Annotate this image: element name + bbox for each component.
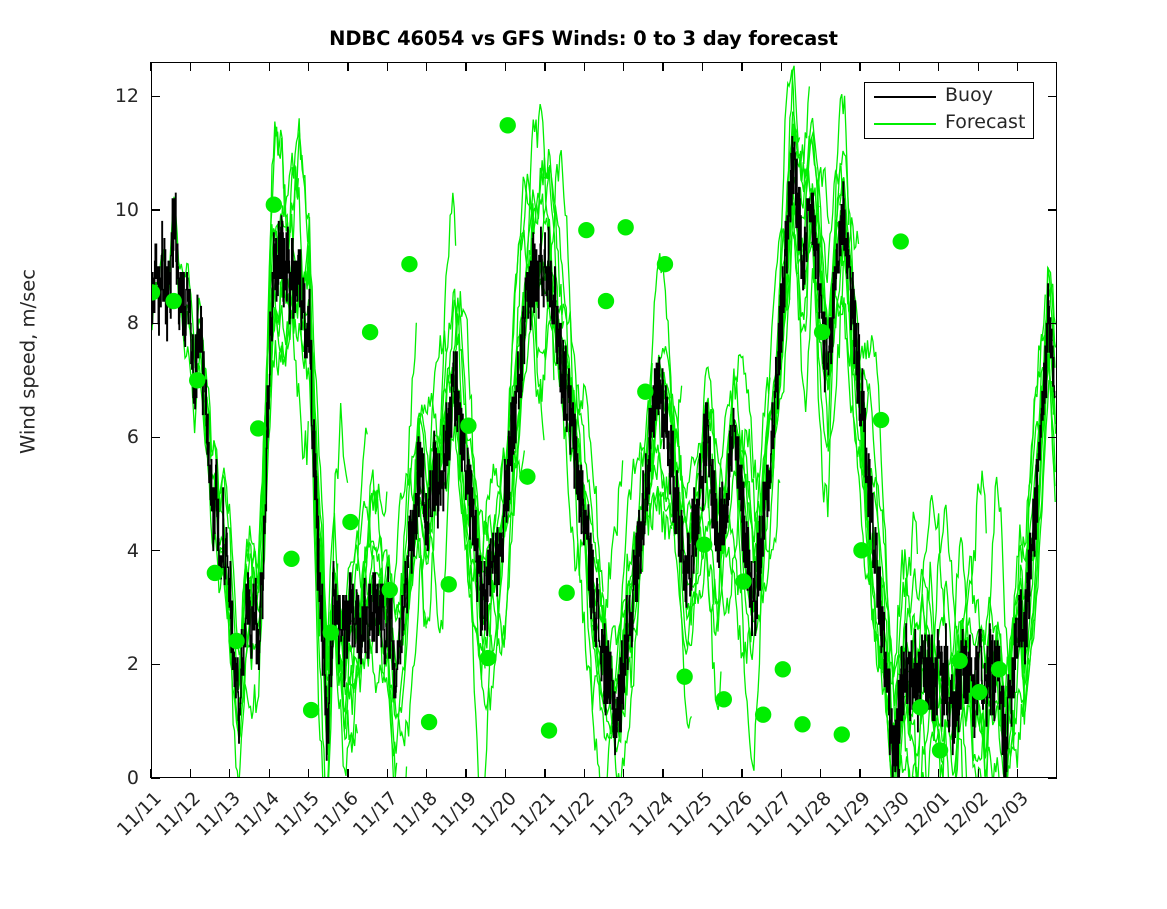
x-tick-mark [623,769,624,778]
x-tick-mark [584,769,585,778]
y-tick-mark [1048,209,1057,210]
daily-mean-marker [559,585,575,601]
legend-box: Buoy Forecast [864,82,1034,139]
x-tick-mark [229,62,230,71]
x-tick-mark [938,62,939,71]
x-tick-mark [781,769,782,778]
daily-mean-marker [598,293,614,309]
x-tick-mark [978,769,979,778]
x-tick-mark [347,769,348,778]
y-tick-label: 12 [79,85,139,107]
daily-mean-marker [775,661,791,677]
x-tick-mark [544,62,545,71]
daily-mean-marker [382,582,398,598]
daily-mean-marker [873,412,889,428]
y-tick-mark [151,209,160,210]
daily-mean-marker [362,324,378,340]
daily-mean-marker [266,197,282,213]
y-axis-label: Wind speed, m/sec [17,102,40,622]
daily-mean-marker [617,219,633,235]
buoy-line [152,137,1056,777]
y-tick-mark [151,96,160,97]
daily-mean-marker [735,573,751,589]
x-tick-mark [269,62,270,71]
y-tick-mark [1048,323,1057,324]
x-tick-mark [584,62,585,71]
daily-mean-marker [480,650,496,666]
legend-entry-forecast: Forecast [865,110,1033,138]
x-tick-mark [1017,769,1018,778]
x-tick-mark [190,62,191,71]
y-tick-label: 10 [79,199,139,221]
daily-mean-marker [952,653,968,669]
daily-mean-marker [834,726,850,742]
daily-mean-marker [853,542,869,558]
x-tick-mark [387,62,388,71]
daily-mean-marker [676,669,692,685]
x-tick-mark [465,62,466,71]
daily-mean-marker [814,324,830,340]
x-tick-mark [859,769,860,778]
y-tick-mark [151,664,160,665]
daily-mean-marker [323,624,339,640]
x-tick-mark [623,62,624,71]
x-tick-mark [308,62,309,71]
daily-mean-marker [519,468,535,484]
x-tick-mark [741,769,742,778]
legend-swatch-forecast [874,123,936,125]
x-tick-mark [387,769,388,778]
chart-title: NDBC 46054 vs GFS Winds: 0 to 3 day fore… [0,27,1167,50]
y-tick-label: 4 [79,540,139,562]
daily-mean-marker [303,702,319,718]
x-tick-mark [820,769,821,778]
daily-mean-marker [578,222,594,238]
x-tick-mark [899,62,900,71]
legend-swatch-buoy [874,96,936,98]
forecast-trace [712,70,829,604]
daily-mean-marker [421,714,437,730]
y-tick-label: 8 [79,312,139,334]
figure-canvas: NDBC 46054 vs GFS Winds: 0 to 3 day fore… [0,0,1167,875]
y-tick-mark [1048,664,1057,665]
x-tick-mark [150,769,151,778]
y-tick-label: 0 [79,767,139,789]
x-tick-mark [426,62,427,71]
daily-mean-marker [912,699,928,715]
x-tick-mark [859,62,860,71]
x-tick-mark [1017,62,1018,71]
daily-mean-marker [207,565,223,581]
daily-mean-marker [893,233,909,249]
daily-mean-marker [401,256,417,272]
x-tick-mark [229,769,230,778]
x-tick-mark [269,769,270,778]
x-tick-mark [465,769,466,778]
y-tick-mark [1048,437,1057,438]
chart-svg [152,63,1056,777]
x-tick-mark [938,769,939,778]
y-tick-label: 6 [79,426,139,448]
y-tick-label: 2 [79,653,139,675]
daily-mean-marker [165,293,181,309]
daily-mean-marker [342,514,358,530]
daily-mean-marker [991,661,1007,677]
x-tick-mark [505,62,506,71]
y-tick-mark [151,550,160,551]
daily-mean-marker [932,742,948,758]
daily-mean-marker [283,551,299,567]
daily-mean-marker [716,691,732,707]
x-tick-mark [662,769,663,778]
x-tick-mark [544,769,545,778]
daily-mean-marker [541,722,557,738]
x-tick-mark [702,62,703,71]
y-tick-mark [151,778,160,779]
plot-area [151,62,1057,778]
y-tick-mark [151,437,160,438]
daily-mean-marker [657,256,673,272]
daily-mean-marker [441,576,457,592]
x-tick-mark [781,62,782,71]
daily-mean-marker [460,418,476,434]
daily-mean-marker [971,684,987,700]
daily-mean-marker [228,633,244,649]
forecast-trace [496,302,613,777]
x-tick-mark [308,769,309,778]
x-tick-mark [190,769,191,778]
daily-mean-marker [794,716,810,732]
x-tick-mark [741,62,742,71]
daily-mean-marker [500,117,516,133]
daily-mean-marker [637,384,653,400]
x-tick-mark [702,769,703,778]
x-tick-mark [820,62,821,71]
y-tick-mark [1048,550,1057,551]
y-tick-mark [1048,778,1057,779]
x-tick-mark [978,62,979,71]
daily-mean-marker [250,420,266,436]
x-tick-mark [347,62,348,71]
legend-label-buoy: Buoy [945,84,993,106]
x-tick-mark [505,769,506,778]
daily-mean-marker [755,706,771,722]
forecast-trace [516,252,633,727]
legend-entry-buoy: Buoy [865,83,1033,111]
x-tick-mark [899,769,900,778]
y-tick-mark [1048,96,1057,97]
daily-mean-marker [189,372,205,388]
daily-mean-marker [696,536,712,552]
x-tick-mark [426,769,427,778]
y-tick-mark [151,323,160,324]
x-tick-mark [662,62,663,71]
x-tick-mark [150,62,151,71]
buoy-series [152,137,1056,777]
legend-label-forecast: Forecast [945,111,1025,133]
